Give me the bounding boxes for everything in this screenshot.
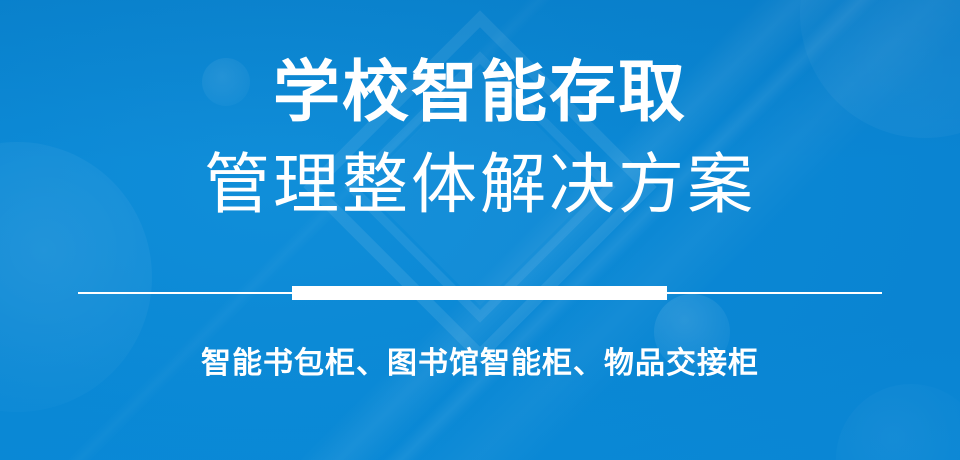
headline-primary: 学校智能存取 [0, 59, 960, 126]
headline-secondary: 管理整体解决方案 [0, 152, 960, 218]
tagline-text: 智能书包柜、图书馆智能柜、物品交接柜 [0, 349, 960, 379]
divider-accent-bar [292, 286, 667, 300]
banner-content: 学校智能存取 管理整体解决方案 智能书包柜、图书馆智能柜、物品交接柜 [0, 0, 960, 460]
promo-banner: 学校智能存取 管理整体解决方案 智能书包柜、图书馆智能柜、物品交接柜 [0, 0, 960, 460]
divider [78, 286, 882, 300]
